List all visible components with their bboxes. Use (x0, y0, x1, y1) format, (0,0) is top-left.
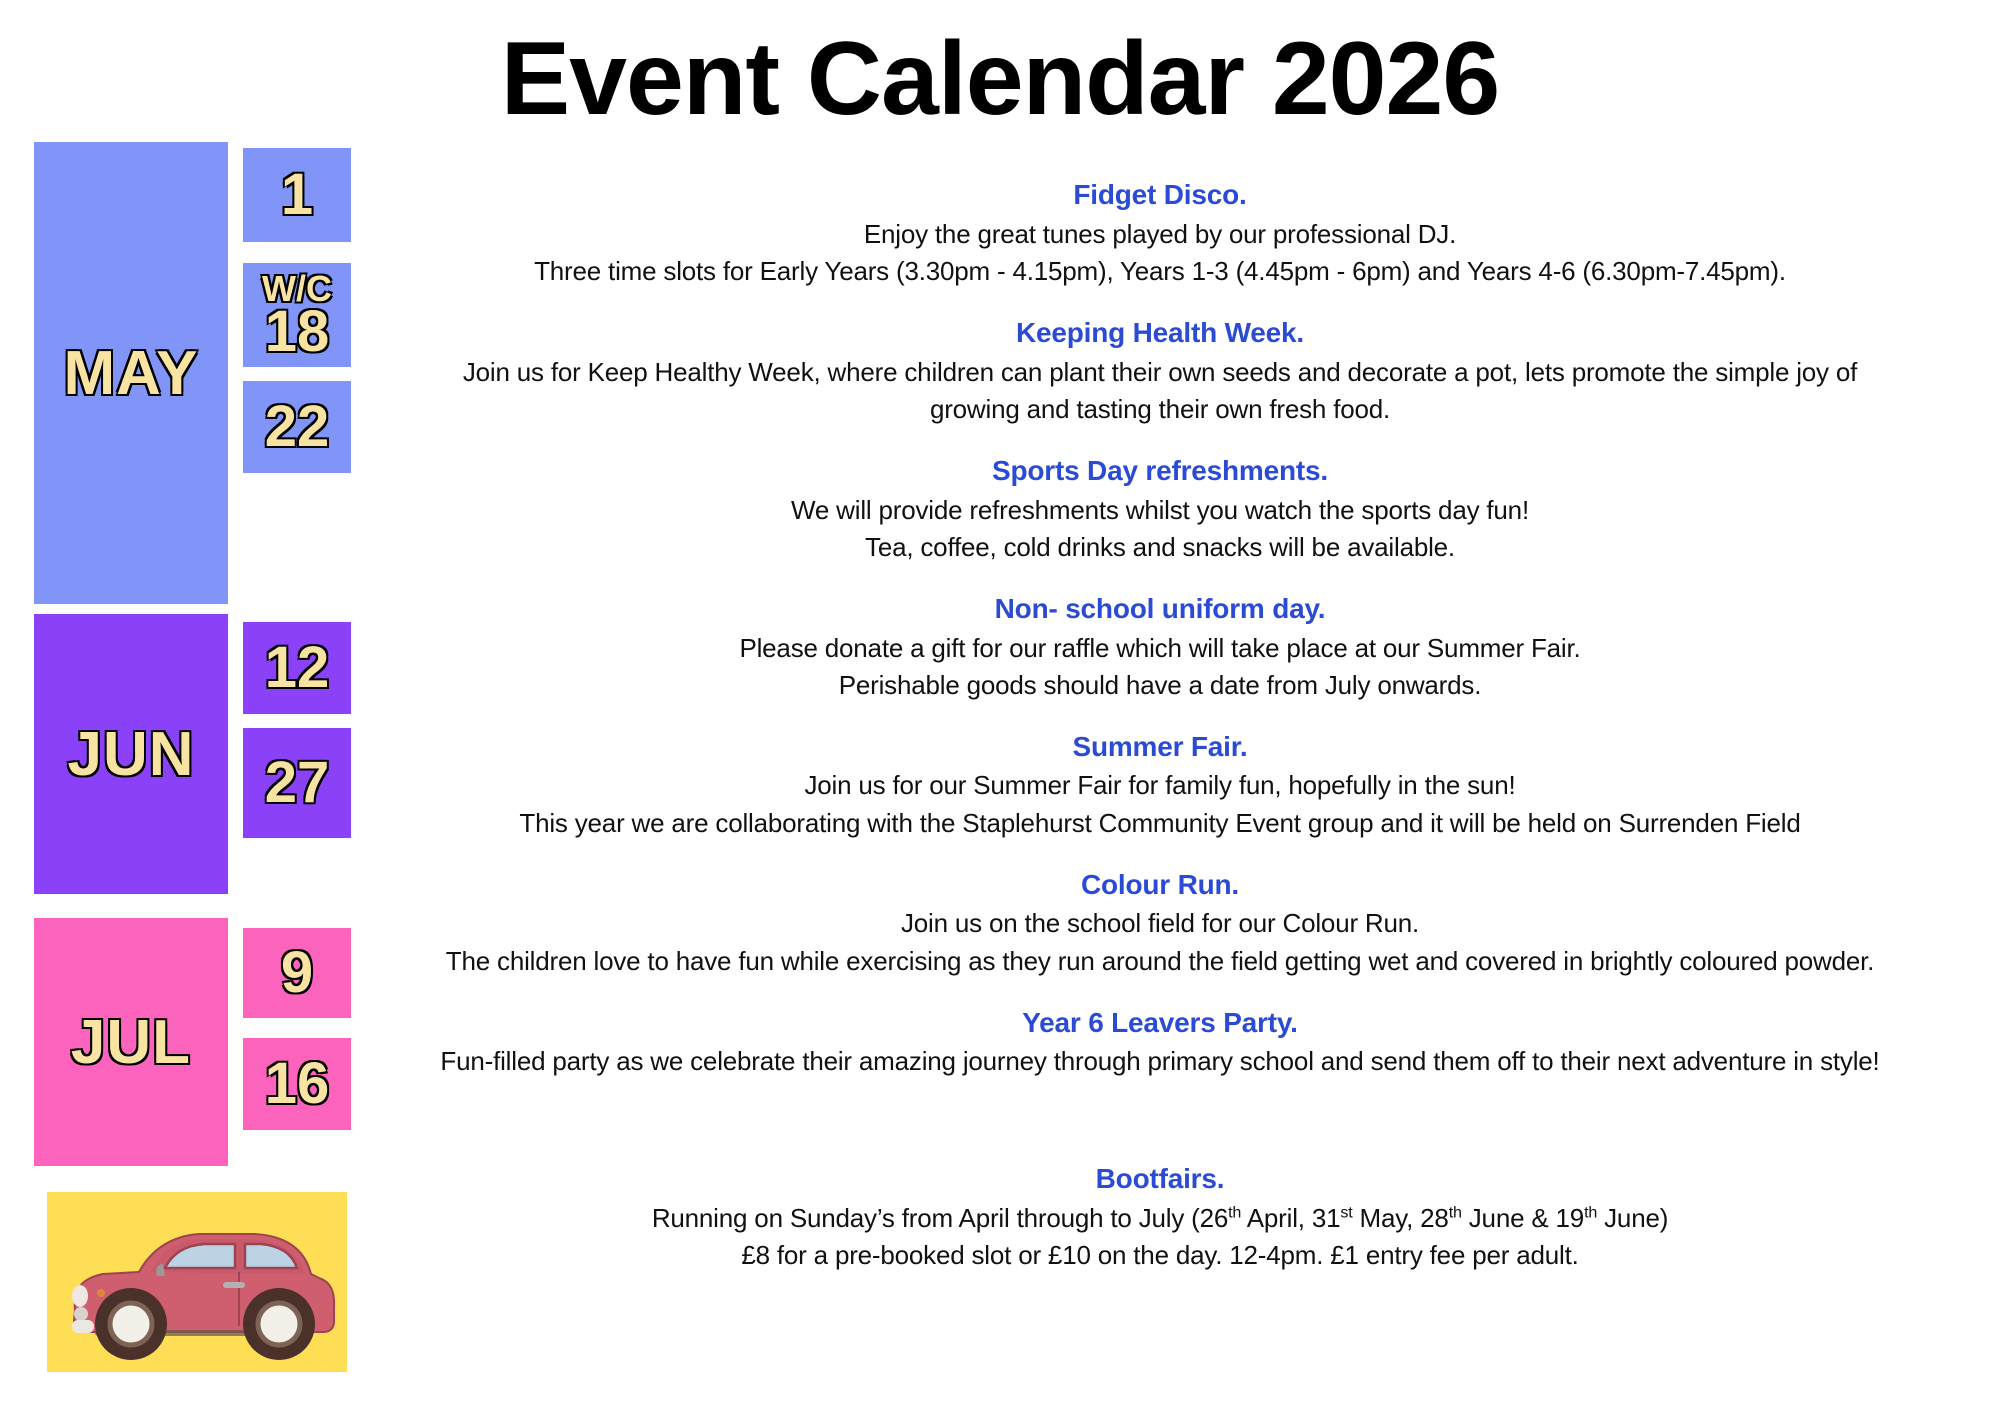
date-number: 12 (265, 641, 330, 694)
date-number: 9 (281, 946, 313, 999)
event-title: Keeping Health Week. (360, 313, 1960, 354)
event-line: Fun-filled party as we celebrate their a… (360, 1043, 1960, 1081)
event-line: We will provide refreshments whilst you … (360, 492, 1960, 530)
month-block-jul: JUL (34, 918, 228, 1166)
event-line: The children love to have fun while exer… (360, 943, 1960, 981)
date-box-jun-12[interactable]: 12 (243, 622, 351, 714)
event-line: Join us for our Summer Fair for family f… (360, 767, 1960, 805)
event-year-6-leavers-party: Year 6 Leavers Party. Fun-filled party a… (360, 1003, 1960, 1081)
event-keeping-health-week: Keeping Health Week. Join us for Keep He… (360, 313, 1960, 429)
event-line-bootfairs-dates: Running on Sunday’s from April through t… (360, 1200, 1960, 1238)
bootfairs-text-e: June) (1597, 1203, 1668, 1233)
event-line: Enjoy the great tunes played by our prof… (360, 216, 1960, 254)
date-box-jul-9[interactable]: 9 (243, 928, 351, 1018)
date-box-jul-16[interactable]: 16 (243, 1038, 351, 1130)
event-bootfairs: Bootfairs. Running on Sunday’s from Apri… (360, 1159, 1960, 1275)
date-box-may-22[interactable]: 22 (243, 381, 351, 473)
ordinal-suffix: th (1449, 1203, 1462, 1221)
date-number: 18 (265, 305, 330, 358)
event-line: Tea, coffee, cold drinks and snacks will… (360, 529, 1960, 567)
red-car-icon (47, 1192, 347, 1372)
month-label-may: MAY (63, 338, 198, 409)
event-line: Perishable goods should have a date from… (360, 667, 1960, 705)
event-non-school-uniform-day: Non- school uniform day. Please donate a… (360, 589, 1960, 705)
month-label-jun: JUN (67, 719, 194, 790)
event-colour-run: Colour Run. Join us on the school field … (360, 865, 1960, 981)
event-line: Join us on the school field for our Colo… (360, 905, 1960, 943)
calendar-rail: MAY 1 W/C 18 22 JUN 12 27 JUL 9 16 (0, 0, 360, 1414)
date-number: 16 (265, 1057, 330, 1110)
event-line: This year we are collaborating with the … (360, 805, 1960, 843)
bootfairs-text-c: May, 28 (1353, 1203, 1449, 1233)
ordinal-suffix: st (1340, 1203, 1352, 1221)
date-number: 22 (265, 400, 330, 453)
event-title: Sports Day refreshments. (360, 451, 1960, 492)
event-title: Fidget Disco. (360, 175, 1960, 216)
event-sports-day-refreshments: Sports Day refreshments. We will provide… (360, 451, 1960, 567)
month-block-may: MAY (34, 142, 228, 604)
month-label-jul: JUL (71, 1007, 191, 1078)
ordinal-suffix: th (1584, 1203, 1597, 1221)
event-fidget-disco: Fidget Disco. Enjoy the great tunes play… (360, 175, 1960, 291)
event-title: Non- school uniform day. (360, 589, 1960, 630)
event-summer-fair: Summer Fair. Join us for our Summer Fair… (360, 727, 1960, 843)
bootfairs-text-d: June & 19 (1462, 1203, 1584, 1233)
bootfairs-text-b: April, 31 (1241, 1203, 1340, 1233)
date-number: 1 (281, 168, 313, 221)
ordinal-suffix: th (1228, 1203, 1241, 1221)
event-title: Colour Run. (360, 865, 1960, 906)
date-box-may-1[interactable]: 1 (243, 148, 351, 242)
events-list: Fidget Disco. Enjoy the great tunes play… (360, 175, 1960, 1297)
month-block-jun: JUN (34, 614, 228, 894)
date-box-may-18[interactable]: W/C 18 (243, 263, 351, 367)
event-line: £8 for a pre-booked slot or £10 on the d… (360, 1237, 1960, 1275)
bootfairs-text-a: Running on Sunday’s from April through t… (652, 1203, 1228, 1233)
event-line: Three time slots for Early Years (3.30pm… (360, 253, 1960, 291)
event-title: Summer Fair. (360, 727, 1960, 768)
car-illustration-tile (47, 1192, 347, 1372)
event-line: Please donate a gift for our raffle whic… (360, 630, 1960, 668)
event-title: Year 6 Leavers Party. (360, 1003, 1960, 1044)
event-line: Join us for Keep Healthy Week, where chi… (450, 354, 1870, 429)
date-number: 27 (265, 756, 330, 809)
event-title: Bootfairs. (360, 1159, 1960, 1200)
date-box-jun-27[interactable]: 27 (243, 728, 351, 838)
